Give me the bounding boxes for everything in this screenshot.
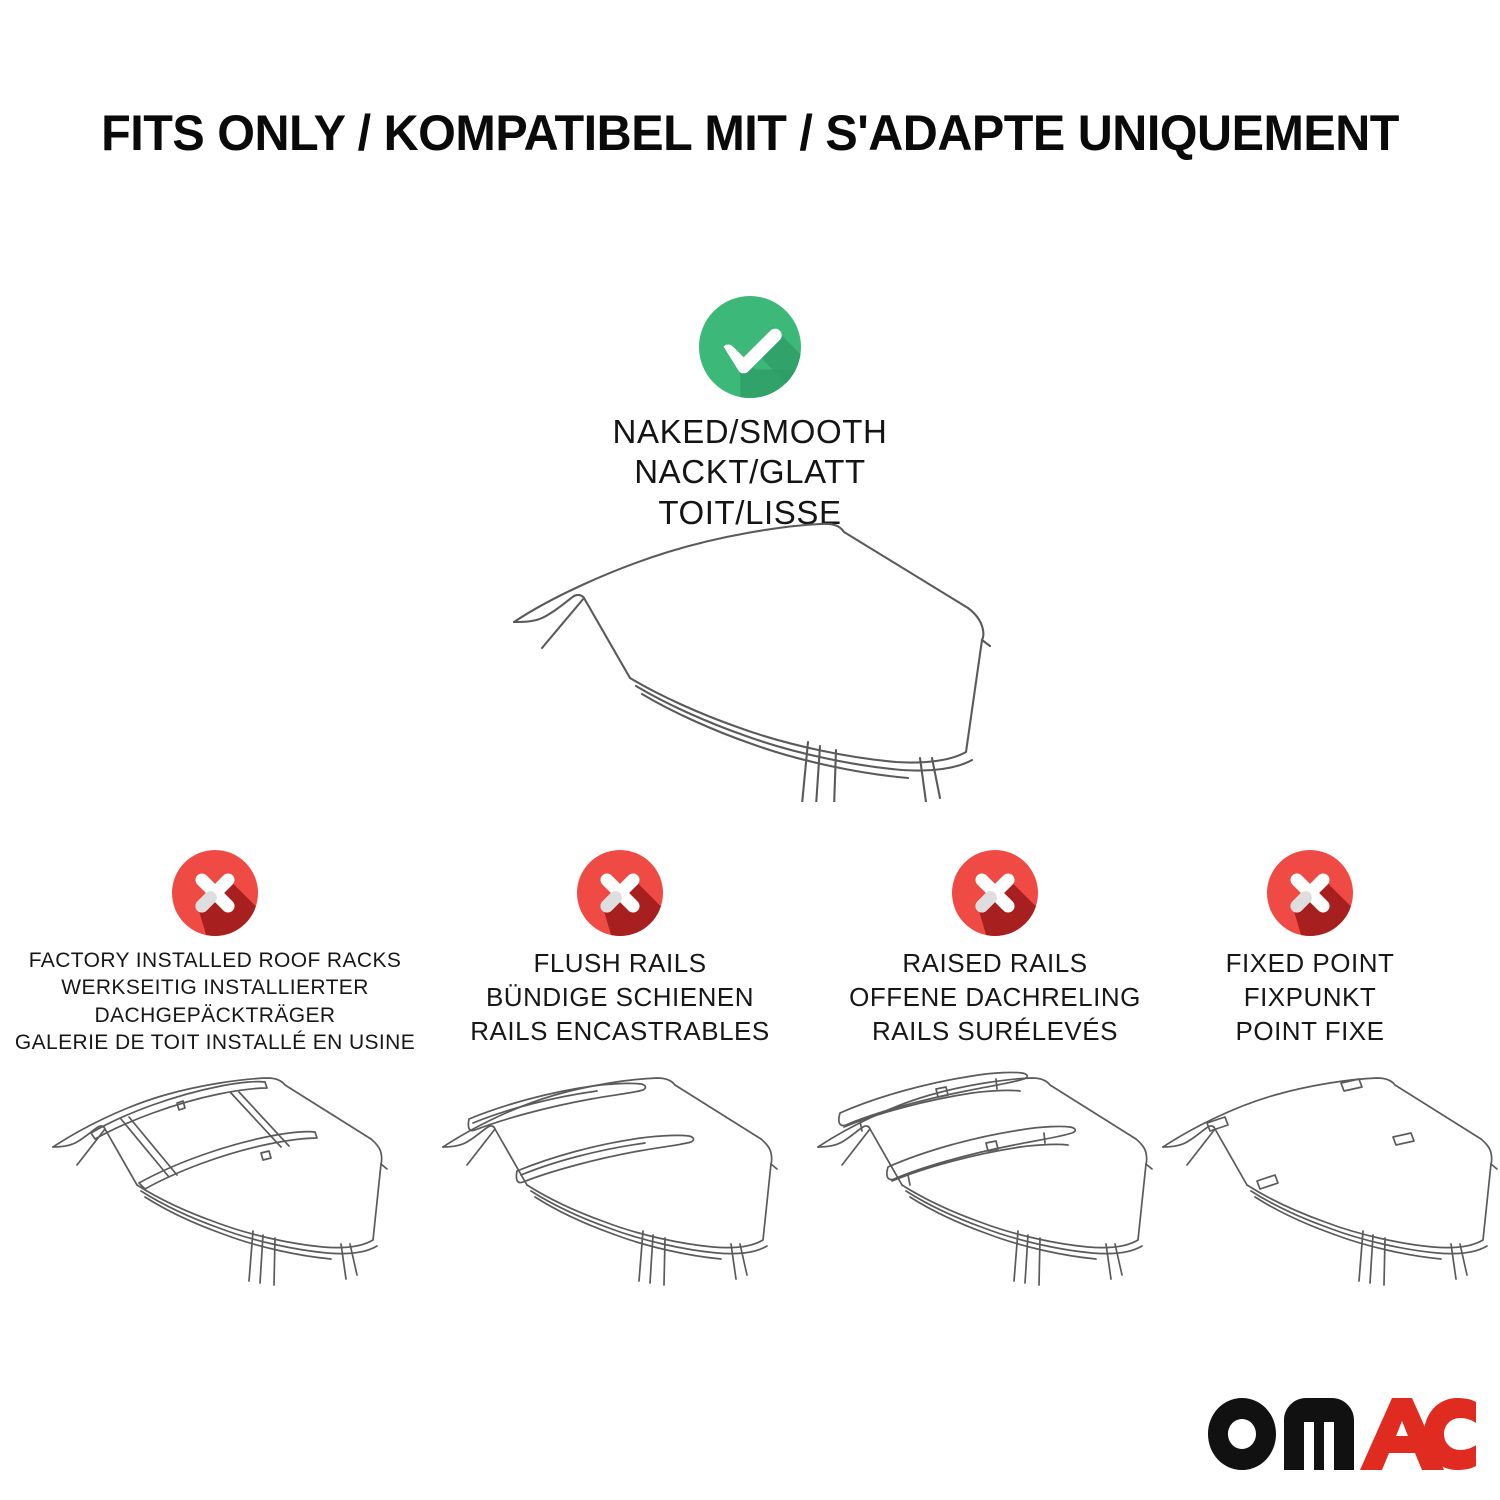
factory-roof-rack-illustration xyxy=(35,1055,435,1315)
incompatible-labels: FLUSH RAILS BÜNDIGE SCHIENEN RAILS ENCAS… xyxy=(470,947,769,1048)
incompatible-label-de: FIXPUNKT xyxy=(1226,981,1395,1015)
check-circle-icon xyxy=(699,296,801,398)
x-circle-icon xyxy=(1267,850,1353,936)
incompatible-label-fr: POINT FIXE xyxy=(1226,1015,1395,1049)
incompatible-illustrations xyxy=(0,1055,1500,1315)
page-title: FITS ONLY / KOMPATIBEL MIT / S'ADAPTE UN… xyxy=(23,104,1478,162)
fixed-point-illustration xyxy=(1145,1055,1500,1315)
compatible-label-en: NAKED/SMOOTH xyxy=(613,412,888,452)
incompatible-label-de: OFFENE DACHRELING xyxy=(849,981,1141,1015)
logo-letter-o xyxy=(1208,1398,1276,1470)
incompatible-label-fr: RAILS ENCASTRABLES xyxy=(470,1015,769,1049)
x-circle-icon xyxy=(577,850,663,936)
x-circle-icon xyxy=(952,850,1038,936)
incompatible-label-en: RAISED RAILS xyxy=(849,947,1141,981)
flush-rails-illustration xyxy=(425,1055,825,1315)
raised-rails-illustration xyxy=(800,1055,1200,1315)
omac-logo-mark xyxy=(1208,1398,1476,1470)
incompatible-label-de1: WERKSEITIG INSTALLIERTER xyxy=(15,974,415,1001)
incompatible-label-en: FACTORY INSTALLED ROOF RACKS xyxy=(15,947,415,974)
incompatible-column-fixed-point: FIXED POINT FIXPUNKT POINT FIXE xyxy=(1150,850,1470,1048)
compatible-label-de: NACKT/GLATT xyxy=(613,452,888,492)
naked-smooth-roof-illustration xyxy=(490,512,1030,802)
incompatible-label-fr: RAILS SURÉLEVÉS xyxy=(849,1015,1141,1049)
incompatible-label-de2: DACHGEPÄCKTRÄGER xyxy=(15,1002,415,1029)
incompatible-column-factory-roof-racks: FACTORY INSTALLED ROOF RACKS WERKSEITIG … xyxy=(15,850,415,1056)
incompatible-labels: FIXED POINT FIXPUNKT POINT FIXE xyxy=(1226,947,1395,1048)
incompatible-label-en: FIXED POINT xyxy=(1226,947,1395,981)
incompatible-columns: FACTORY INSTALLED ROOF RACKS WERKSEITIG … xyxy=(0,850,1500,1050)
incompatible-labels: FACTORY INSTALLED ROOF RACKS WERKSEITIG … xyxy=(15,947,415,1056)
x-circle-icon xyxy=(172,850,258,936)
omac-logo xyxy=(1208,1396,1476,1472)
incompatible-column-raised-rails: RAISED RAILS OFFENE DACHRELING RAILS SUR… xyxy=(795,850,1195,1048)
incompatible-label-de: BÜNDIGE SCHIENEN xyxy=(470,981,769,1015)
compatible-block: NAKED/SMOOTH NACKT/GLATT TOIT/LISSE xyxy=(0,296,1500,533)
incompatible-labels: RAISED RAILS OFFENE DACHRELING RAILS SUR… xyxy=(849,947,1141,1048)
incompatible-column-flush-rails: FLUSH RAILS BÜNDIGE SCHIENEN RAILS ENCAS… xyxy=(420,850,820,1048)
incompatible-label-en: FLUSH RAILS xyxy=(470,947,769,981)
incompatible-label-fr: GALERIE DE TOIT INSTALLÉ EN USINE xyxy=(15,1029,415,1056)
logo-letter-m xyxy=(1284,1398,1354,1470)
